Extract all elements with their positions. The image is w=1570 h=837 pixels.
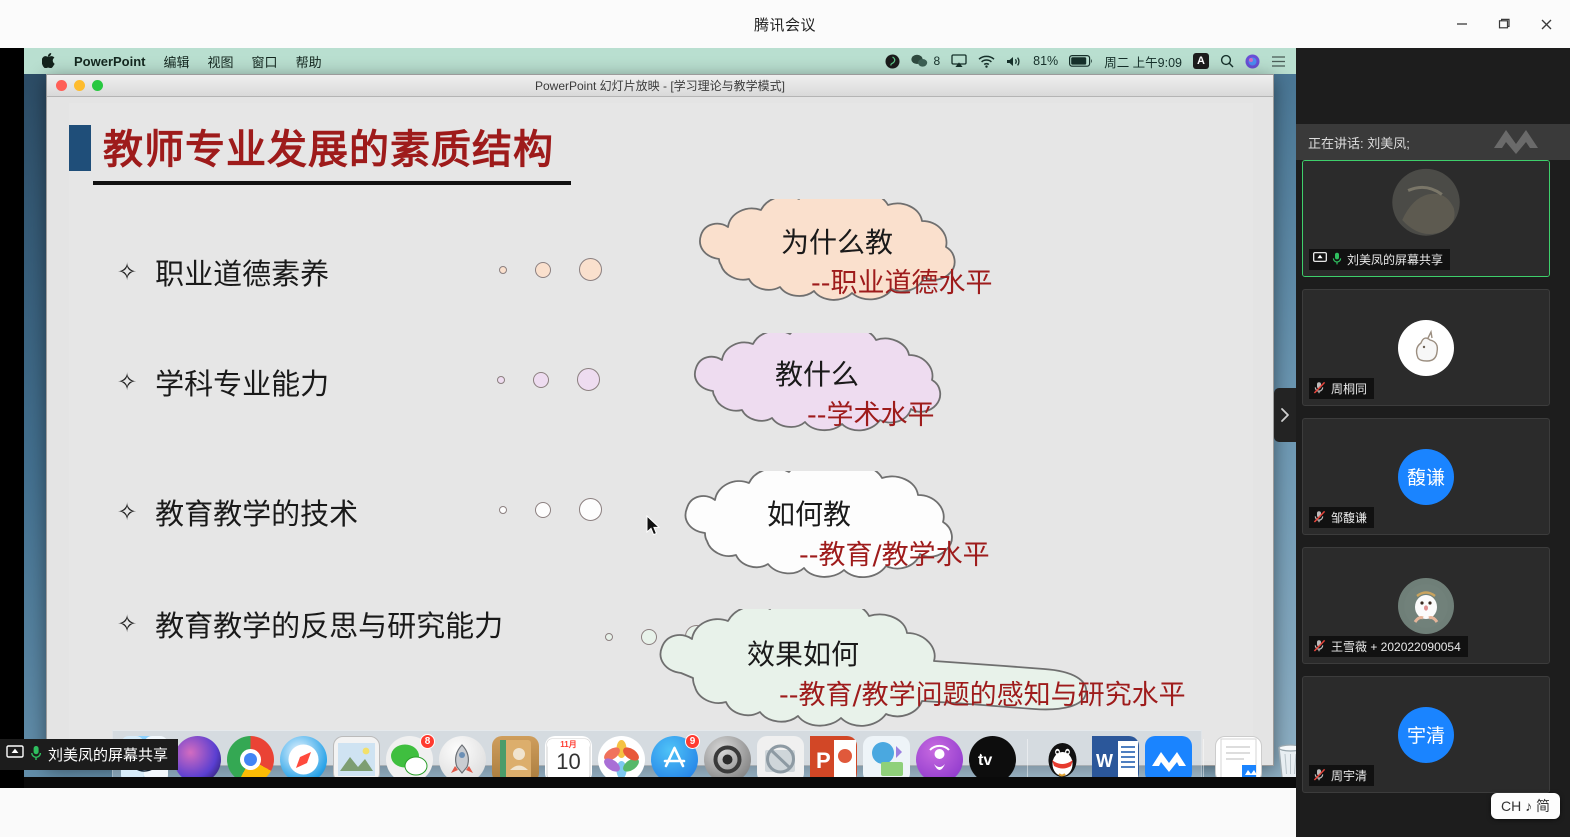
cloud-answer-1: --职业道德水平 bbox=[811, 261, 993, 300]
cloud-question-2: 教什么 bbox=[775, 353, 859, 393]
participant-tile[interactable]: 王雪薇 + 202022090054 bbox=[1302, 547, 1550, 664]
shield-status-icon[interactable] bbox=[885, 54, 900, 69]
diamond-bullet-icon: ✧ bbox=[117, 368, 137, 396]
participant-name: 周宇清 bbox=[1331, 767, 1367, 784]
participant-tile[interactable]: 馥谦 邹馥谦 bbox=[1302, 418, 1550, 535]
app-root: 腾讯会议 bbox=[0, 0, 1570, 837]
dock-icon-trash[interactable] bbox=[1268, 736, 1296, 783]
dock-separator bbox=[1203, 739, 1204, 781]
bullet-label-2: 学科专业能力 bbox=[155, 361, 329, 403]
avatar: 馥谦 bbox=[1398, 449, 1454, 505]
participant-tile[interactable]: 宇清 周宇清 bbox=[1302, 676, 1550, 793]
powerpoint-window: PowerPoint 幻灯片放映 - [学习理论与教学模式] 教师专业发展的素质… bbox=[46, 74, 1274, 766]
dock-icon-system-preferences[interactable] bbox=[704, 736, 751, 783]
dock-icon-safari[interactable] bbox=[280, 736, 327, 783]
avatar bbox=[1398, 320, 1454, 376]
close-icon[interactable] bbox=[1536, 14, 1556, 34]
trail-dot-small bbox=[497, 376, 505, 384]
slide-title: 教师专业发展的素质结构 bbox=[103, 117, 554, 175]
mac-menubar: PowerPoint 编辑 视图 窗口 帮助 bbox=[24, 48, 1296, 74]
participant-tile-list: 刘美凤的屏幕共享 周桐同 bbox=[1302, 160, 1564, 805]
restore-icon[interactable] bbox=[1494, 14, 1514, 34]
ime-indicator[interactable]: CH ♪ 简 bbox=[1491, 793, 1560, 819]
trail-dot-small bbox=[499, 506, 507, 514]
dock-icon-calendar[interactable]: 11月 10 bbox=[545, 736, 592, 783]
dock-icon-tencent-meeting[interactable] bbox=[1145, 736, 1192, 783]
diamond-bullet-icon: ✧ bbox=[117, 498, 137, 526]
bullet-item-4: ✧ 教育教学的反思与研究能力 bbox=[117, 603, 503, 645]
dock-icon-contacts[interactable] bbox=[492, 736, 539, 783]
chevron-right-icon bbox=[1280, 407, 1290, 423]
dock-icon-podcasts[interactable] bbox=[916, 736, 963, 783]
active-speaker-label: 正在讲话: 刘美凤; bbox=[1308, 133, 1410, 152]
dock-icon-google-chrome[interactable] bbox=[227, 736, 274, 783]
title-underline bbox=[93, 181, 571, 185]
bullet-item-2: ✧ 学科专业能力 bbox=[117, 361, 329, 403]
thought-trail-3 bbox=[499, 498, 602, 521]
dock-badge-wechat: 8 bbox=[420, 734, 435, 749]
dock-icon-document[interactable] bbox=[1215, 736, 1262, 783]
trail-dot-medium bbox=[535, 262, 551, 278]
tencent-meeting-logo bbox=[1492, 124, 1552, 159]
screen-share-icon bbox=[6, 745, 24, 764]
powerpoint-document-title: PowerPoint 幻灯片放映 - [学习理论与教学模式] bbox=[47, 77, 1273, 94]
screen-share-banner-label: 刘美凤的屏幕共享 bbox=[48, 744, 168, 765]
microphone-muted-icon bbox=[1313, 381, 1326, 397]
menubar-clock[interactable]: 周二 上午9:09 bbox=[1104, 52, 1182, 71]
svg-text:P: P bbox=[816, 748, 831, 773]
dock-icon-preview[interactable] bbox=[333, 736, 380, 783]
microphone-muted-icon bbox=[1313, 768, 1326, 784]
dock-icon-launchpad[interactable] bbox=[439, 736, 486, 783]
dock-icon-siri[interactable] bbox=[174, 736, 221, 783]
cloud-question-4: 效果如何 bbox=[747, 633, 859, 673]
thought-cloud-4: 效果如何 --教育/教学问题的感知与研究水平 bbox=[619, 609, 1149, 731]
input-source-indicator[interactable]: A bbox=[1193, 53, 1209, 69]
thought-trail-1 bbox=[499, 258, 602, 281]
wechat-unread-count: 8 bbox=[933, 54, 940, 68]
app-title: 腾讯会议 bbox=[754, 14, 816, 35]
bullet-item-3: ✧ 教育教学的技术 bbox=[117, 491, 358, 533]
microphone-icon bbox=[1332, 252, 1342, 268]
shared-screen-area[interactable]: PowerPoint 编辑 视图 窗口 帮助 bbox=[0, 48, 1296, 788]
volume-icon[interactable] bbox=[1006, 55, 1022, 68]
microphone-muted-icon bbox=[1313, 639, 1326, 655]
slide-canvas[interactable]: 教师专业发展的素质结构 ✧ 职业道德素养 ✧ 学科专业能力 ✧ bbox=[47, 97, 1274, 766]
trail-dot-small bbox=[499, 266, 507, 274]
avatar bbox=[1398, 578, 1454, 634]
bullet-label-1: 职业道德素养 bbox=[155, 251, 329, 293]
bullet-label-3: 教育教学的技术 bbox=[155, 491, 358, 533]
participant-tile[interactable]: 周桐同 bbox=[1302, 289, 1550, 406]
avatar: 宇清 bbox=[1398, 707, 1454, 763]
desktop-bottom-strip bbox=[24, 777, 1296, 788]
airplay-icon[interactable] bbox=[951, 54, 967, 68]
screen-share-icon bbox=[1313, 252, 1327, 267]
dock-icon-qq[interactable] bbox=[1039, 736, 1086, 783]
menu-item-help[interactable]: 帮助 bbox=[296, 52, 322, 71]
participant-sidebar: 正在讲话: 刘美凤; bbox=[1296, 48, 1570, 837]
thought-cloud-1: 为什么教 --职业道德水平 bbox=[663, 199, 1063, 313]
participant-tile-label: 邹馥谦 bbox=[1309, 507, 1374, 528]
cloud-question-3: 如何教 bbox=[767, 493, 851, 533]
control-center-icon[interactable] bbox=[1271, 55, 1286, 68]
participant-name: 周桐同 bbox=[1331, 380, 1367, 397]
participant-tile-label: 周桐同 bbox=[1309, 378, 1374, 399]
cloud-question-1: 为什么教 bbox=[781, 221, 893, 261]
thought-cloud-2: 教什么 --学术水平 bbox=[659, 333, 1049, 445]
microphone-icon bbox=[30, 745, 42, 765]
sidebar-collapse-button[interactable] bbox=[1274, 388, 1296, 442]
wifi-icon[interactable] bbox=[978, 55, 995, 68]
dock-icon-blocked-app[interactable] bbox=[757, 736, 804, 783]
dock-icon-app-store[interactable]: 9 bbox=[651, 736, 698, 783]
dock-separator bbox=[1027, 739, 1028, 781]
menu-item-view[interactable]: 视图 bbox=[208, 52, 234, 71]
trail-dot-small bbox=[605, 633, 613, 641]
participant-name: 邹馥谦 bbox=[1331, 509, 1367, 526]
mouse-cursor-icon bbox=[646, 515, 662, 542]
dock-icon-apple-tv[interactable]: tv bbox=[969, 736, 1016, 783]
dock-icon-photos[interactable] bbox=[598, 736, 645, 783]
trail-dot-medium bbox=[535, 502, 551, 518]
participant-tile-label: 王雪薇 + 202022090054 bbox=[1309, 636, 1468, 657]
title-accent-block bbox=[69, 125, 91, 171]
battery-icon[interactable] bbox=[1069, 55, 1093, 67]
battery-percent-label: 81% bbox=[1033, 54, 1058, 68]
cloud-answer-3: --教育/教学水平 bbox=[799, 533, 990, 572]
slide-content: 教师专业发展的素质结构 ✧ 职业道德素养 ✧ 学科专业能力 ✧ bbox=[69, 103, 1253, 761]
participant-name: 刘美凤的屏幕共享 bbox=[1347, 251, 1443, 268]
app-titlebar: 腾讯会议 bbox=[0, 0, 1570, 48]
microphone-muted-icon bbox=[1313, 510, 1326, 526]
diamond-bullet-icon: ✧ bbox=[117, 258, 137, 286]
mac-desktop: PowerPoint 编辑 视图 窗口 帮助 bbox=[24, 48, 1296, 788]
bullet-label-4: 教育教学的反思与研究能力 bbox=[155, 603, 503, 645]
powerpoint-titlebar: PowerPoint 幻灯片放映 - [学习理论与教学模式] bbox=[47, 75, 1273, 97]
dock-icon-microsoft-word[interactable]: W bbox=[1092, 736, 1139, 783]
cloud-answer-2: --学术水平 bbox=[807, 393, 935, 432]
participant-tile-label: 周宇清 bbox=[1309, 765, 1374, 786]
cloud-answer-4: --教育/教学问题的感知与研究水平 bbox=[779, 673, 1186, 712]
participant-tile[interactable]: 刘美凤的屏幕共享 bbox=[1302, 160, 1550, 277]
menu-item-edit[interactable]: 编辑 bbox=[164, 52, 190, 71]
svg-text:W: W bbox=[1096, 751, 1113, 771]
trail-dot-large bbox=[577, 368, 600, 391]
siri-icon[interactable] bbox=[1245, 54, 1260, 69]
minimize-icon[interactable] bbox=[1452, 14, 1472, 34]
dock-badge-app-store: 9 bbox=[685, 734, 700, 749]
dock-icon-powerpoint[interactable]: P bbox=[810, 736, 857, 783]
window-controls bbox=[1452, 0, 1556, 48]
participant-tile-label: 刘美凤的屏幕共享 bbox=[1309, 249, 1450, 270]
menu-item-powerpoint[interactable]: PowerPoint bbox=[74, 54, 146, 69]
dock-icon-wechat[interactable]: 8 bbox=[386, 736, 433, 783]
participant-name: 王雪薇 + 202022090054 bbox=[1331, 638, 1461, 655]
trail-dot-large bbox=[579, 258, 602, 281]
thought-cloud-3: 如何教 --教育/教学水平 bbox=[647, 471, 1072, 589]
bullet-item-1: ✧ 职业道德素养 bbox=[117, 251, 329, 293]
wechat-status-icon[interactable] bbox=[911, 54, 928, 68]
apple-icon[interactable] bbox=[42, 53, 56, 69]
calendar-day-label: 10 bbox=[545, 749, 592, 775]
trail-dot-large bbox=[579, 498, 602, 521]
thought-trail-2 bbox=[497, 368, 600, 391]
spotlight-search-icon[interactable] bbox=[1220, 54, 1234, 68]
trail-dot-medium bbox=[533, 372, 549, 388]
screen-share-banner: 刘美凤的屏幕共享 bbox=[0, 739, 178, 770]
dock-icon-screen-share[interactable] bbox=[863, 736, 910, 783]
menu-item-window[interactable]: 窗口 bbox=[252, 52, 278, 71]
diamond-bullet-icon: ✧ bbox=[117, 610, 137, 638]
